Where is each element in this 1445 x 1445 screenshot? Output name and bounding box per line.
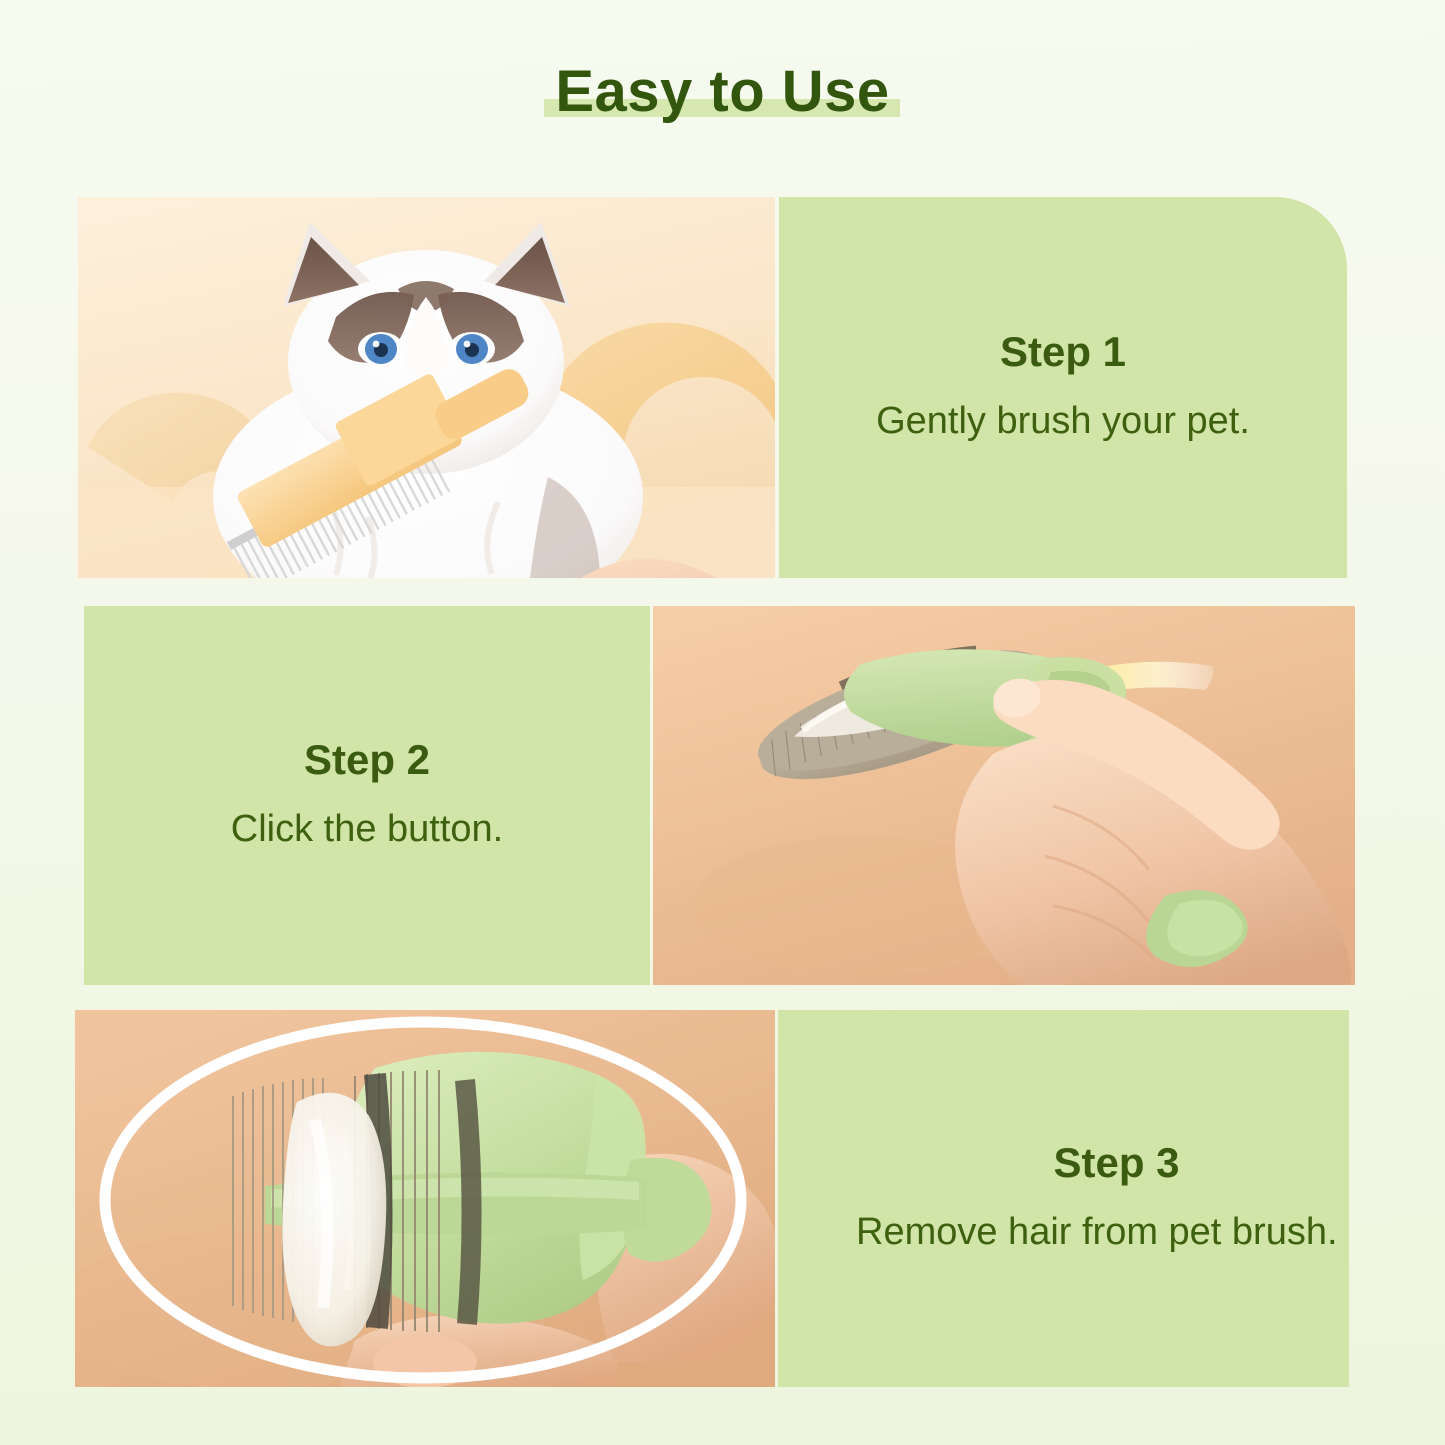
step-3-row: Step 3 Remove hair from pet brush. <box>0 1010 1445 1387</box>
cat-being-brushed-photo <box>78 197 775 578</box>
page-header: Easy to Use <box>0 62 1445 123</box>
step-3-text-panel: Step 3 Remove hair from pet brush. <box>778 1010 1349 1387</box>
step-3-description: Remove hair from pet brush. <box>856 1208 1338 1257</box>
step-1-description: Gently brush your pet. <box>876 397 1250 446</box>
step-2-text-panel: Step 2 Click the button. <box>84 606 650 985</box>
step-2-row: Step 2 Click the button. <box>0 606 1445 985</box>
step-2-title: Step 2 <box>304 737 430 783</box>
page-title: Easy to Use <box>555 59 889 124</box>
hand-clicking-brush-button-photo <box>653 606 1355 985</box>
step-1-row: Step 1 Gently brush your pet. <box>0 197 1445 578</box>
step-1-title: Step 1 <box>1000 329 1126 375</box>
hair-removal-closeup-photo <box>75 1010 775 1387</box>
step-3-title: Step 3 <box>1053 1140 1179 1186</box>
step-2-description: Click the button. <box>231 805 503 854</box>
step-1-text-panel: Step 1 Gently brush your pet. <box>779 197 1347 578</box>
